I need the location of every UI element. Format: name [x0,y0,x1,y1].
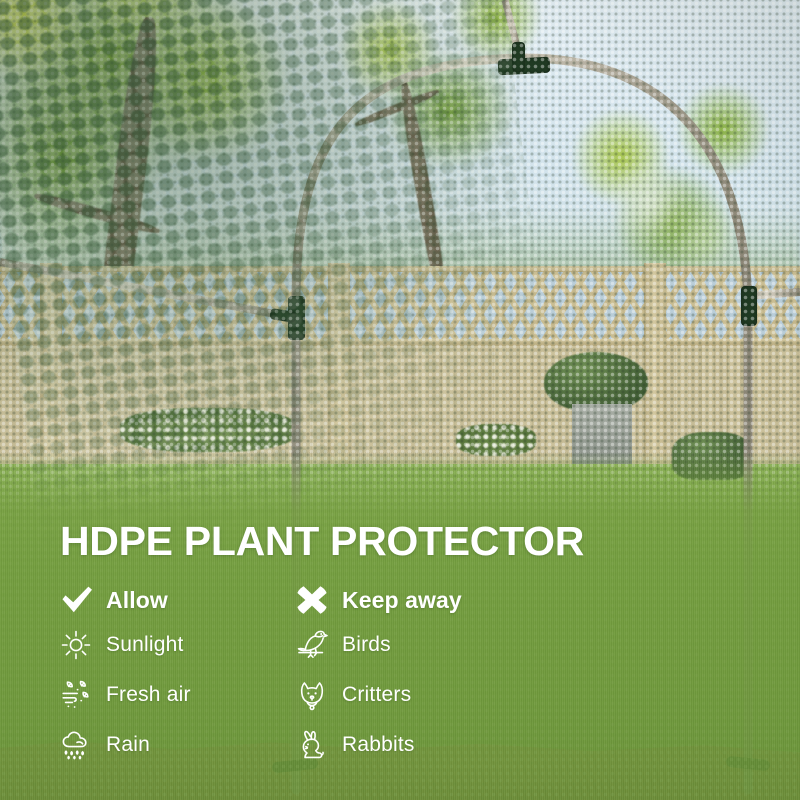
column-keep-away-title: Keep away [342,587,462,614]
feature-row-rain: Rain [60,720,191,770]
feature-row-fresh-air: Fresh air [60,670,191,720]
feature-label-fresh-air: Fresh air [106,683,191,707]
column-allow-header: Allow [60,580,191,620]
feature-row-critters: Critters [296,670,462,720]
dog-head-icon [296,679,342,711]
page-title: HDPE PLANT PROTECTOR [60,518,584,565]
feature-row-birds: Birds [296,620,462,670]
feature-row-sunlight: Sunlight [60,620,191,670]
column-allow: Allow [60,580,191,770]
feature-label-rain: Rain [106,733,150,757]
connector-right-rail [741,286,757,326]
bird-icon [296,629,342,661]
column-keep-away: Keep away [296,580,462,770]
feature-label-rabbits: Rabbits [342,733,415,757]
rabbit-icon [296,729,342,761]
cross-icon [296,585,342,615]
feature-row-rabbits: Rabbits [296,720,462,770]
checkmark-icon [60,585,106,615]
product-image: HDPE PLANT PROTECTOR Allow [0,0,800,800]
feature-label-sunlight: Sunlight [106,633,184,657]
connector-apex-vertical [512,42,525,72]
info-panel: HDPE PLANT PROTECTOR Allow [0,448,800,800]
sun-icon [60,629,106,661]
side-rail-left [0,262,296,318]
feature-label-birds: Birds [342,633,391,657]
leaf-wind-icon [60,679,106,711]
rain-cloud-icon [60,729,106,761]
column-allow-title: Allow [106,587,168,614]
column-keep-away-header: Keep away [296,580,462,620]
feature-label-critters: Critters [342,683,411,707]
